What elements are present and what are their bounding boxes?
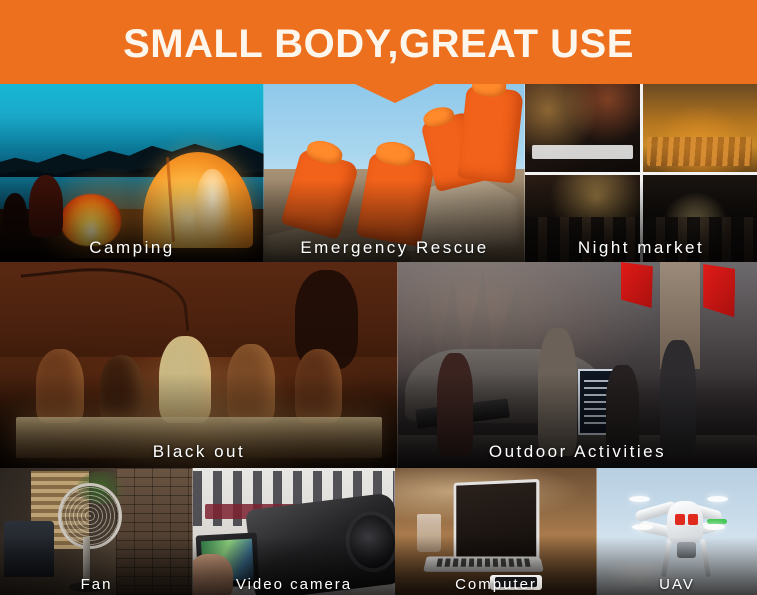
drone-red-marker <box>675 514 685 525</box>
header-banner: SMALL BODY,GREAT USE <box>0 0 757 84</box>
panel-emergency-rescue[interactable]: Emergency Rescue <box>264 84 525 262</box>
food-skewers <box>647 137 752 167</box>
panel-video-camera[interactable]: Video camera <box>193 468 395 595</box>
night-market-tile-clothes <box>525 84 640 172</box>
caption-computer: Computer <box>395 576 597 593</box>
panel-uav[interactable]: UAV <box>597 468 757 595</box>
panel-row-2: Black out Outdoor Activities <box>0 262 757 468</box>
panel-black-out[interactable]: Black out <box>0 262 398 468</box>
caption-black-out: Black out <box>0 442 398 462</box>
panel-outdoor-activities[interactable]: Outdoor Activities <box>398 262 757 468</box>
caption-video-camera: Video camera <box>193 576 395 593</box>
panel-computer[interactable]: Computer <box>395 468 597 595</box>
panel-row-3: Fan Video camera <box>0 468 757 595</box>
helmet-icon <box>471 84 508 98</box>
panel-camping[interactable]: Camping <box>0 84 264 262</box>
night-market-tile-skewers <box>643 84 757 172</box>
market-stall <box>532 145 633 159</box>
caption-uav: UAV <box>597 576 757 593</box>
promo-banner-image: SMALL BODY,GREAT USE Camping <box>0 0 757 595</box>
panel-fan[interactable]: Fan <box>0 468 193 595</box>
drone-red-marker <box>688 514 698 525</box>
caption-night-market: Night market <box>525 238 757 258</box>
panel-row-1: Camping Emergency Rescue <box>0 84 757 262</box>
caption-outdoor-activities: Outdoor Activities <box>398 442 757 462</box>
page-title: SMALL BODY,GREAT USE <box>123 24 634 64</box>
panel-night-market[interactable]: Night market <box>525 84 757 262</box>
banner-notch-triangle <box>355 84 435 103</box>
drone-camera-gimbal <box>677 542 696 559</box>
caption-emergency-rescue: Emergency Rescue <box>264 238 525 258</box>
caption-fan: Fan <box>0 576 193 593</box>
caption-camping: Camping <box>0 238 264 258</box>
rescue-worker <box>458 85 525 183</box>
